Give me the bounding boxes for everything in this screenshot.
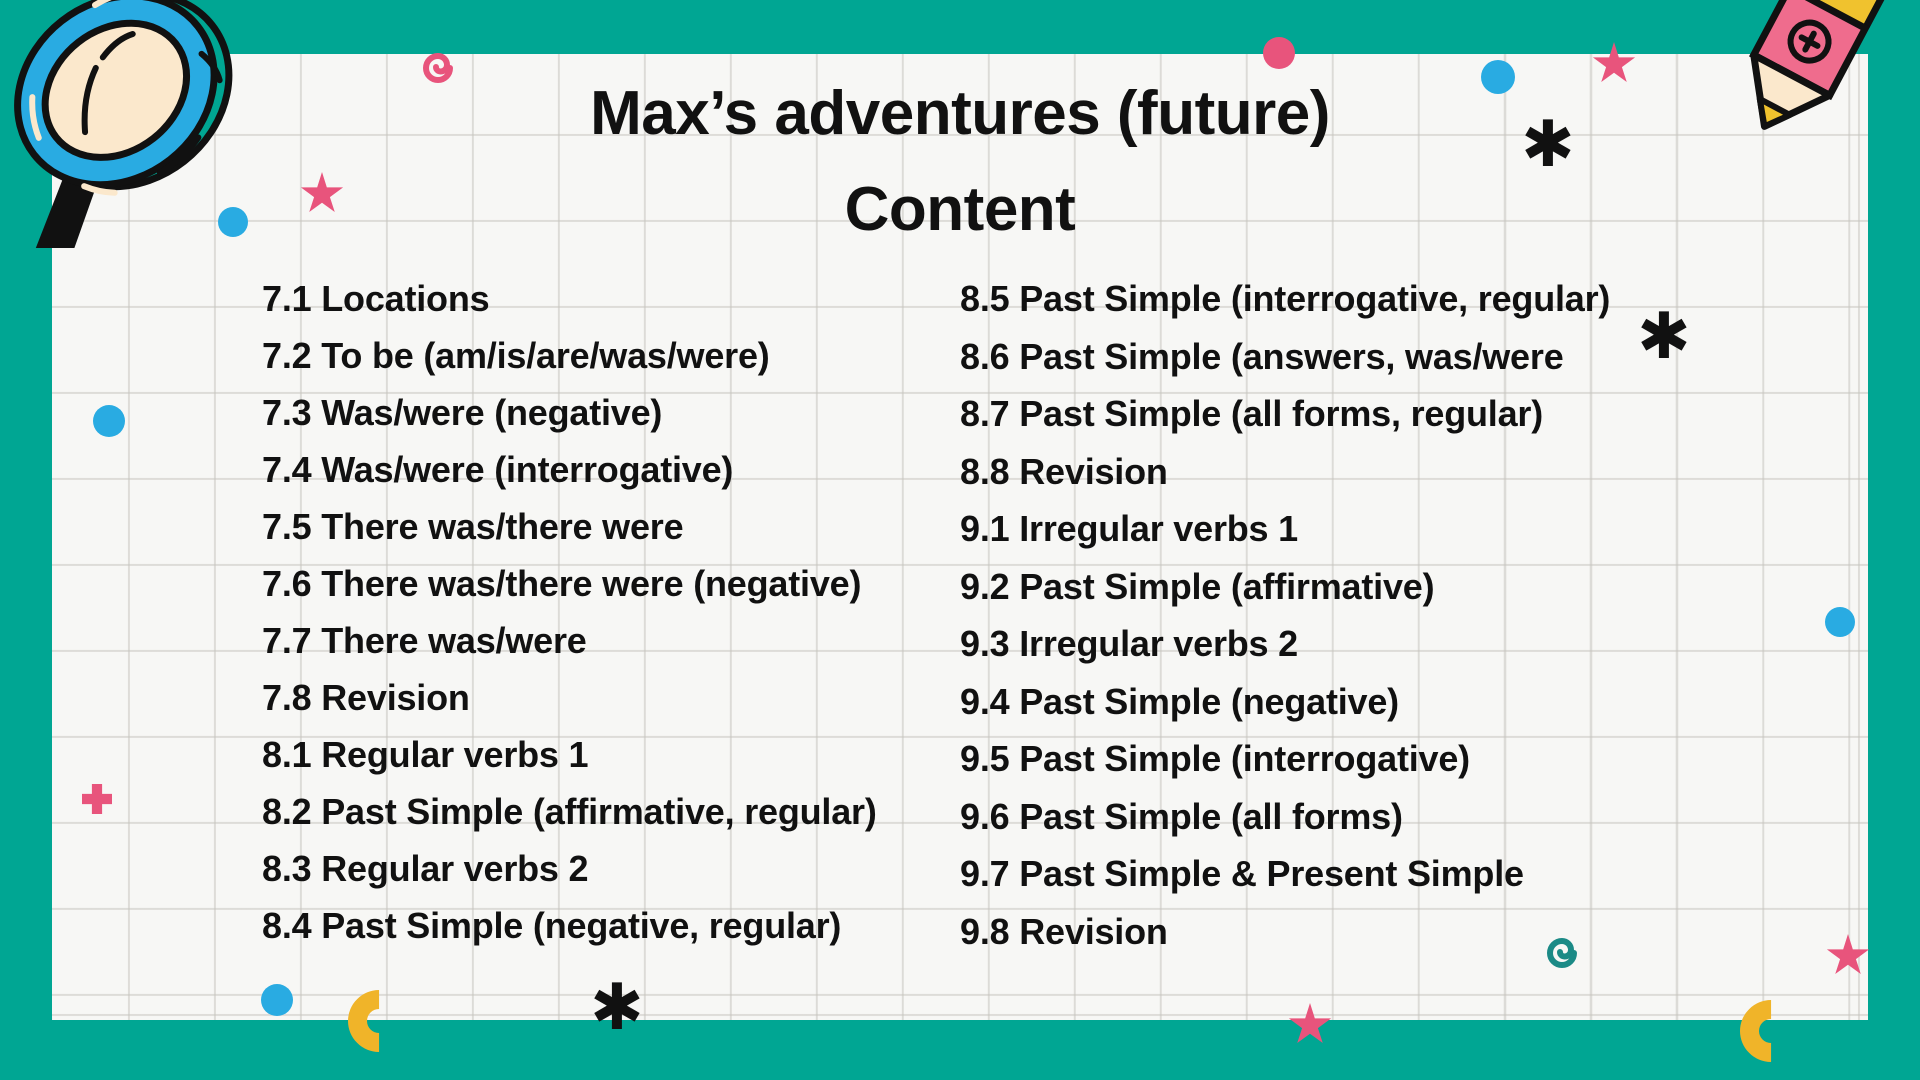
magnifying-glass-icon	[0, 0, 262, 248]
list-item: 7.8 Revision	[262, 669, 800, 726]
slide-canvas: Max’s adventures (future) Content 7.1 Lo…	[0, 0, 1920, 1080]
title-line-1: Max’s adventures (future)	[0, 66, 1920, 162]
list-item: 8.8 Revision	[960, 443, 1660, 501]
list-item: 8.3 Regular verbs 2	[262, 840, 800, 897]
list-item: 9.4 Past Simple (negative)	[960, 673, 1660, 731]
list-item: 8.6 Past Simple (answers, was/were	[960, 328, 1660, 386]
list-item: 9.3 Irregular verbs 2	[960, 615, 1660, 673]
page-title: Max’s adventures (future) Content	[0, 66, 1920, 258]
list-item: 7.6 There was/there were (negative)	[262, 555, 800, 612]
list-item: 7.2 To be (am/is/are/was/were)	[262, 327, 800, 384]
list-item: 7.4 Was/were (interrogative)	[262, 441, 800, 498]
title-line-2: Content	[0, 162, 1920, 258]
list-item: 8.7 Past Simple (all forms, regular)	[960, 385, 1660, 443]
pencil-icon	[1670, 0, 1900, 190]
list-item: 9.1 Irregular verbs 1	[960, 500, 1660, 558]
list-item: 7.3 Was/were (negative)	[262, 384, 800, 441]
list-item: 9.7 Past Simple & Present Simple	[960, 845, 1660, 903]
list-item: 7.7 There was/were	[262, 612, 800, 669]
list-item: 7.1 Locations	[262, 270, 800, 327]
list-item: 7.5 There was/there were	[262, 498, 800, 555]
content-right-column: 8.5 Past Simple (interrogative, regular)…	[800, 270, 1660, 960]
list-item: 8.2 Past Simple (affirmative, regular)	[262, 783, 800, 840]
list-item: 9.8 Revision	[960, 903, 1660, 961]
list-item: 9.2 Past Simple (affirmative)	[960, 558, 1660, 616]
list-item: 9.6 Past Simple (all forms)	[960, 788, 1660, 846]
list-item: 8.4 Past Simple (negative, regular)	[262, 897, 800, 954]
list-item: 8.5 Past Simple (interrogative, regular)	[960, 270, 1660, 328]
list-item: 8.1 Regular verbs 1	[262, 726, 800, 783]
content-left-column: 7.1 Locations 7.2 To be (am/is/are/was/w…	[0, 270, 800, 960]
list-item: 9.5 Past Simple (interrogative)	[960, 730, 1660, 788]
content-columns: 7.1 Locations 7.2 To be (am/is/are/was/w…	[0, 270, 1920, 960]
